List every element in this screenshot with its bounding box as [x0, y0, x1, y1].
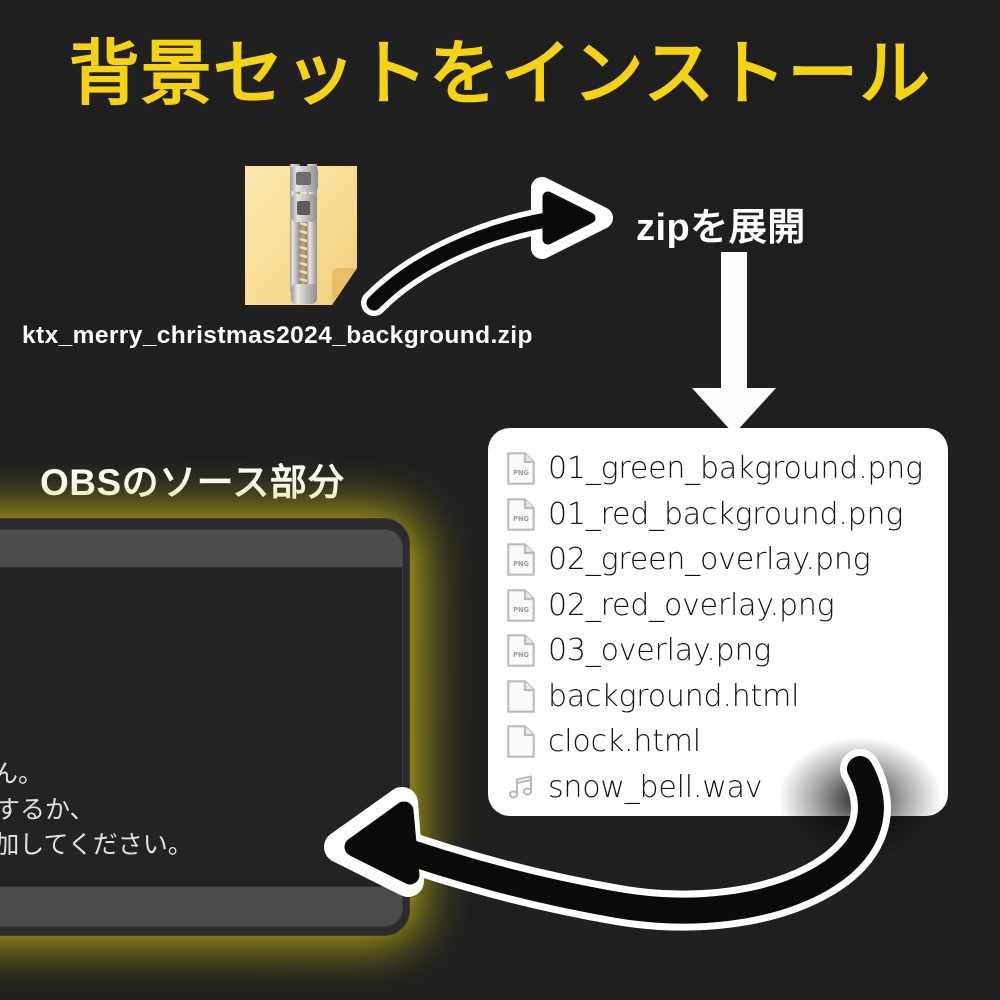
file-name-label: 03_overlay.png — [548, 633, 771, 668]
obs-empty-line-1: ースがありません。 — [0, 756, 193, 792]
obs-empty-line-2: タンをクリックするか、 — [0, 792, 193, 828]
png-file-icon: PNG — [506, 543, 536, 577]
html-file-icon — [506, 679, 536, 713]
png-file-icon: PNG — [506, 452, 536, 486]
svg-text:PNG: PNG — [513, 651, 529, 659]
file-name-label: 01_green_bakground.png — [548, 451, 923, 486]
list-item[interactable]: PNG 02_red_overlay.png — [506, 583, 948, 629]
obs-empty-line-3: クリックして追加してください。 — [0, 827, 193, 863]
file-name-label: background.html — [548, 679, 799, 714]
zip-expand-label: zipを展開 — [636, 196, 806, 251]
list-item[interactable]: background.html — [506, 674, 948, 720]
file-name-label: clock.html — [548, 724, 701, 759]
list-item[interactable]: PNG 01_green_bakground.png — [506, 446, 948, 492]
svg-text:PNG: PNG — [513, 560, 529, 568]
list-item[interactable]: PNG 01_red_background.png — [506, 492, 948, 538]
file-name-label: 02_green_overlay.png — [548, 542, 870, 577]
list-item[interactable]: PNG 02_green_overlay.png — [506, 537, 948, 583]
obs-panel-titlebar: ソース — [0, 530, 402, 568]
png-file-icon: PNG — [506, 634, 536, 668]
file-name-label: 02_red_overlay.png — [548, 588, 834, 623]
obs-empty-state-text: ースがありません。 タンをクリックするか、 クリックして追加してください。 — [0, 756, 193, 863]
svg-text:PNG: PNG — [513, 469, 529, 477]
list-item[interactable]: PNG 03_overlay.png — [506, 628, 948, 674]
arrow-down-icon — [668, 252, 800, 438]
curved-arrow-left-icon — [300, 755, 920, 955]
file-name-label: 01_red_background.png — [548, 497, 903, 532]
png-file-icon: PNG — [506, 588, 536, 622]
svg-text:PNG: PNG — [513, 606, 529, 614]
zip-filename-label: ktx_merry_christmas2024_background.zip — [22, 322, 533, 350]
page-title: 背景セットをインストール — [0, 38, 1000, 113]
zip-archive-icon — [240, 158, 362, 310]
png-file-icon: PNG — [506, 497, 536, 531]
curved-arrow-right-icon — [352, 168, 642, 318]
obs-section-label: OBSのソース部分 — [40, 452, 345, 506]
svg-text:PNG: PNG — [513, 515, 529, 523]
html-file-icon — [506, 725, 536, 759]
